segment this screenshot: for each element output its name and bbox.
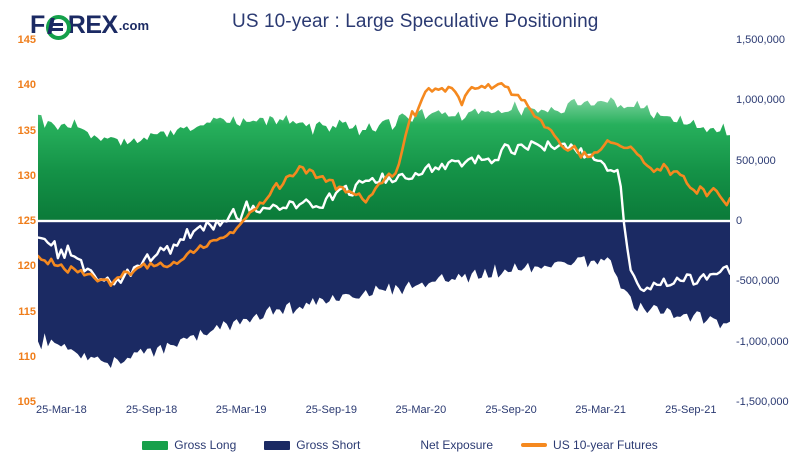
x-axis-tick: 25-Mar-19 bbox=[216, 404, 267, 416]
legend-label: US 10-year Futures bbox=[553, 438, 658, 452]
left-axis: 105110115120125130135140145 bbox=[0, 0, 36, 458]
x-axis-tick: 25-Sep-19 bbox=[306, 404, 357, 416]
x-axis-tick: 25-Mar-20 bbox=[395, 404, 446, 416]
legend-swatch-icon bbox=[142, 441, 168, 450]
left-axis-tick: 135 bbox=[2, 125, 36, 137]
page-title: US 10-year : Large Speculative Positioni… bbox=[232, 11, 598, 33]
right-axis-tick: -500,000 bbox=[736, 275, 779, 287]
logo-dotcom: .com bbox=[119, 18, 149, 33]
legend-swatch-icon bbox=[264, 441, 290, 450]
left-axis-tick: 140 bbox=[2, 79, 36, 91]
forex-com-logo: F REX.com bbox=[30, 12, 149, 38]
right-axis-tick: 1,500,000 bbox=[736, 34, 785, 46]
logo-letters-rex: REX bbox=[68, 13, 118, 38]
legend-item[interactable]: US 10-year Futures bbox=[521, 438, 658, 452]
x-axis-tick: 25-Sep-18 bbox=[126, 404, 177, 416]
right-axis-tick: 1,000,000 bbox=[736, 94, 785, 106]
legend-item[interactable]: Gross Long bbox=[142, 438, 236, 452]
right-axis-tick: -1,000,000 bbox=[736, 336, 789, 348]
zero-line bbox=[38, 220, 730, 222]
x-axis: 25-Mar-1825-Sep-1825-Mar-1925-Sep-1925-M… bbox=[0, 404, 800, 428]
legend-item[interactable]: Net Exposure bbox=[388, 438, 493, 452]
legend-swatch-icon bbox=[388, 441, 414, 450]
legend-item[interactable]: Gross Short bbox=[264, 438, 360, 452]
legend-swatch-icon bbox=[521, 443, 547, 447]
chart-container: F REX.com US 10-year : Large Speculative… bbox=[0, 0, 800, 458]
x-axis-tick: 25-Sep-20 bbox=[485, 404, 536, 416]
left-axis-tick: 125 bbox=[2, 215, 36, 227]
legend-label: Gross Short bbox=[296, 438, 360, 452]
left-axis-tick: 130 bbox=[2, 170, 36, 182]
gross-long-area bbox=[38, 97, 730, 221]
chart-legend: Gross LongGross ShortNet ExposureUS 10-y… bbox=[0, 434, 800, 456]
legend-label: Net Exposure bbox=[420, 438, 493, 452]
logo-euro-o-icon bbox=[46, 15, 67, 36]
x-axis-tick: 25-Mar-21 bbox=[575, 404, 626, 416]
right-axis-tick: 0 bbox=[736, 215, 742, 227]
x-axis-tick: 25-Mar-18 bbox=[36, 404, 87, 416]
left-axis-tick: 145 bbox=[2, 34, 36, 46]
right-axis-tick: 500,000 bbox=[736, 155, 776, 167]
right-axis: -1,500,000-1,000,000-500,0000500,0001,00… bbox=[736, 0, 800, 458]
left-axis-tick: 120 bbox=[2, 260, 36, 272]
left-axis-tick: 115 bbox=[2, 306, 36, 318]
plot-area bbox=[38, 40, 730, 402]
x-axis-tick: 25-Sep-21 bbox=[665, 404, 716, 416]
legend-label: Gross Long bbox=[174, 438, 236, 452]
left-axis-tick: 110 bbox=[2, 351, 36, 363]
